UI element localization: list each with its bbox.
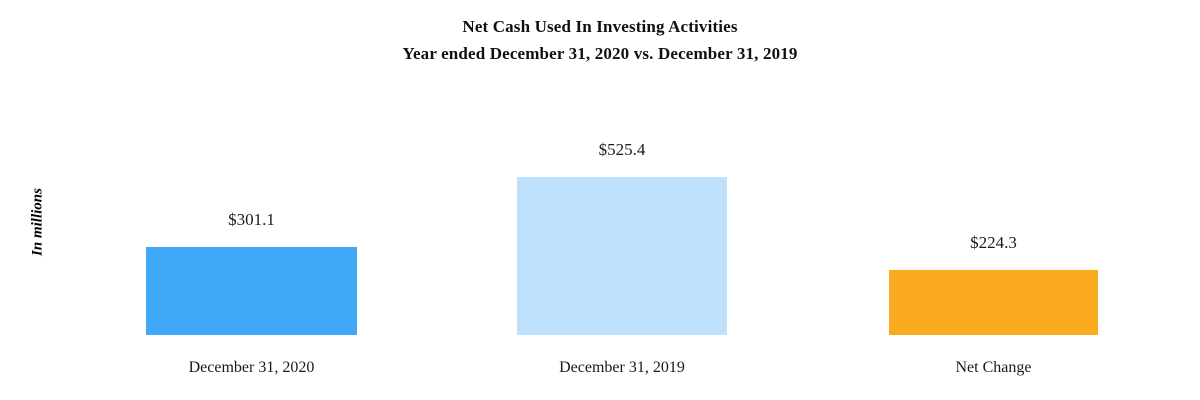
bar-category-label: December 31, 2020	[132, 358, 371, 378]
bar-group-december-31-2020: $301.1 December 31, 2020	[146, 0, 357, 400]
plot-area: $301.1 December 31, 2020 $525.4 December…	[0, 0, 1200, 400]
bar-value-label: $525.4	[517, 140, 727, 160]
bar-group-december-31-2019: $525.4 December 31, 2019	[517, 0, 727, 400]
bar-rect[interactable]	[517, 177, 727, 335]
bar-rect[interactable]	[889, 270, 1098, 335]
bar-value-label: $224.3	[889, 233, 1098, 253]
bar-category-label: Net Change	[875, 358, 1112, 378]
bar-chart: Net Cash Used In Investing Activities Ye…	[0, 0, 1200, 400]
bar-rect[interactable]	[146, 247, 357, 335]
bar-group-net-change: $224.3 Net Change	[889, 0, 1098, 400]
bar-category-label: December 31, 2019	[503, 358, 741, 378]
bar-value-label: $301.1	[146, 210, 357, 230]
